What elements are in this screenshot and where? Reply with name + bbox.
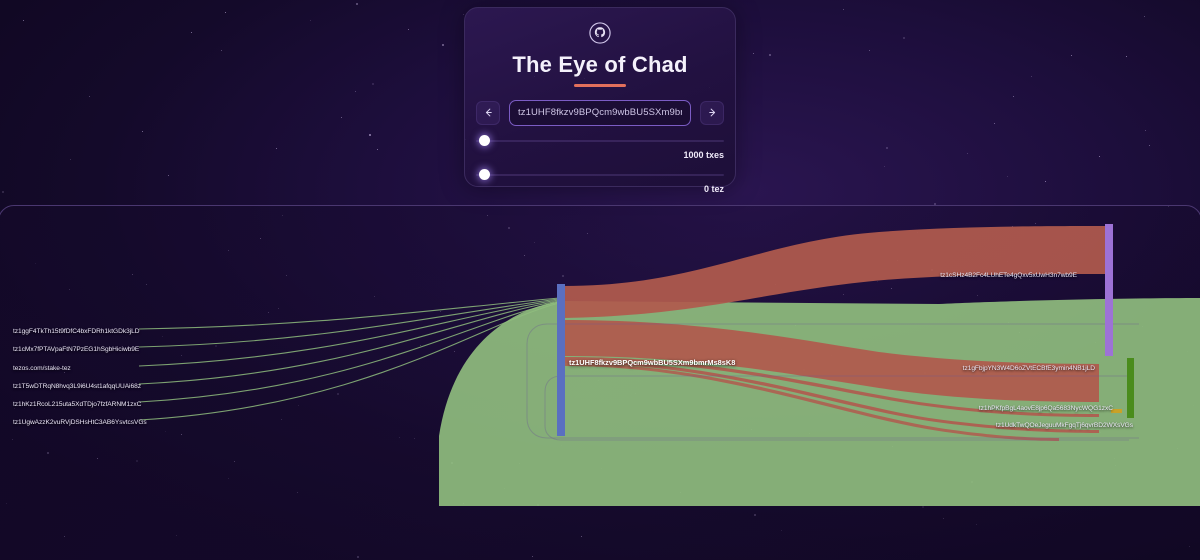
title-underline — [574, 84, 626, 87]
star — [967, 153, 968, 154]
star — [869, 50, 870, 51]
arrow-right-icon — [707, 107, 718, 118]
star — [408, 29, 409, 30]
star — [1144, 16, 1145, 17]
star — [1145, 130, 1146, 131]
sankey-target-label-1[interactable]: tz1cSHz4B2Fc4LUhETe4gQxv5xUwH3n7wb9E — [940, 272, 1077, 279]
star — [886, 147, 888, 149]
page-title: The Eye of Chad — [465, 52, 735, 78]
star — [2, 191, 4, 193]
star — [1007, 176, 1008, 177]
sankey-node-center[interactable] — [557, 284, 565, 436]
sankey-source-label-2[interactable]: tz1cMx7fPTAVpaFtN7PzEG1hSgbHiciwb9E — [13, 346, 139, 353]
address-search-input[interactable] — [509, 100, 691, 126]
sankey-target-label-3[interactable]: tz1hPKfpBgL4aovE8jp6Qa5683NycWQG1zxC — [979, 405, 1113, 412]
search-row — [465, 100, 735, 126]
star — [70, 159, 71, 160]
star — [994, 123, 995, 124]
sankey-source-label-6[interactable]: tz1UgwAzzK2vuRVjDSHsHtC3AB6YsvtcsVGs — [13, 419, 147, 426]
star — [1031, 76, 1032, 77]
star — [191, 32, 192, 33]
sankey-node-target-green[interactable] — [1127, 358, 1134, 418]
transaction-count-slider[interactable]: 1000 txes — [465, 140, 735, 160]
star — [372, 83, 374, 85]
slider-thumb[interactable] — [479, 169, 490, 180]
github-icon[interactable] — [589, 22, 611, 44]
star — [355, 91, 356, 92]
sankey-link-inflow-1[interactable] — [139, 298, 559, 329]
star — [168, 175, 169, 176]
arrow-left-icon — [483, 107, 494, 118]
star — [1126, 56, 1127, 57]
sankey-target-label-2[interactable]: tz1gFbjpYN3W4D6oZVtECBfE3ymin4NB1jLD — [963, 365, 1095, 372]
star — [221, 50, 222, 51]
star — [377, 149, 378, 150]
sankey-svg — [0, 206, 1200, 560]
star — [1013, 96, 1014, 97]
star — [442, 44, 444, 46]
amount-value: 0 tez — [476, 184, 724, 194]
slider-track[interactable] — [476, 174, 724, 176]
sankey-diagram-panel[interactable]: tz1ggF4TkTh15t9fDfC4bxFDRh1ktGDk3jLD tz1… — [0, 205, 1200, 560]
sankey-source-label-3[interactable]: tezos.com/stake-tez — [13, 365, 71, 372]
star — [142, 131, 143, 132]
star — [769, 54, 771, 56]
star — [753, 53, 754, 54]
star — [225, 12, 226, 13]
sankey-source-label-5[interactable]: tz1hKz1RcoL215uta5XdTDjo7fzfARNM1zxC — [13, 401, 141, 408]
star — [1149, 145, 1150, 146]
star — [369, 134, 371, 136]
star — [463, 14, 464, 15]
sankey-node-target-purple[interactable] — [1105, 224, 1113, 356]
star — [341, 117, 342, 118]
slider-track[interactable] — [476, 140, 724, 142]
sankey-source-label-1[interactable]: tz1ggF4TkTh15t9fDfC4bxFDRh1ktGDk3jLD — [13, 328, 139, 335]
sankey-source-label-4[interactable]: tz1T5wDTRqN8hvq3L9i6U4st1afqqUUAi68z — [13, 383, 141, 390]
star — [310, 20, 311, 21]
sankey-target-label-4[interactable]: tz1UdkTwQOeJeguuMkFgqTj6qvrBD2WXsVGs — [996, 422, 1133, 429]
star — [884, 166, 885, 167]
star — [1099, 156, 1100, 157]
app-root: The Eye of Chad 1000 txes — [0, 0, 1200, 560]
sankey-center-node-label[interactable]: tz1UHF8fkzv9BPQcm9wbBU5SXm9bmrMs8sK8 — [569, 358, 735, 367]
amount-slider[interactable]: 0 tez — [465, 174, 735, 194]
slider-thumb[interactable] — [479, 135, 490, 146]
star — [1045, 181, 1046, 182]
star — [843, 9, 844, 10]
header-card: The Eye of Chad 1000 txes — [464, 7, 736, 187]
star — [1071, 55, 1072, 56]
star — [89, 96, 90, 97]
star — [903, 37, 905, 39]
transaction-count-value: 1000 txes — [476, 150, 724, 160]
star — [23, 20, 24, 21]
back-button[interactable] — [476, 101, 500, 125]
star — [356, 3, 358, 5]
forward-button[interactable] — [700, 101, 724, 125]
star — [276, 148, 277, 149]
